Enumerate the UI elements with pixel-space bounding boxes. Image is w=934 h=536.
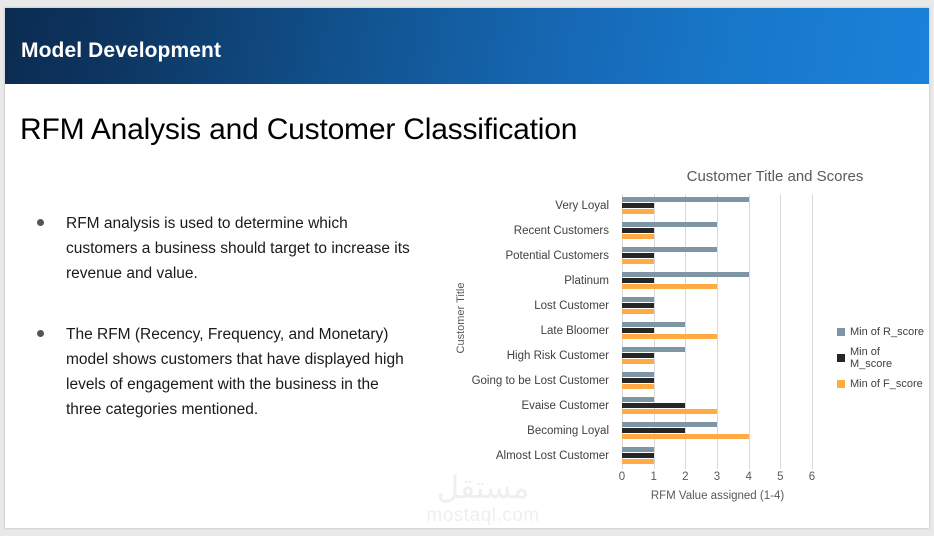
chart-bar	[622, 397, 654, 402]
chart-category-label: Potential Customers	[435, 244, 616, 269]
chart-category-labels: Very LoyalRecent CustomersPotential Cust…	[435, 194, 616, 469]
legend-swatch-icon	[837, 328, 845, 336]
chart-bar	[622, 347, 685, 352]
bullet-dot-icon	[37, 219, 44, 226]
chart-bar	[622, 453, 654, 458]
chart-bar	[622, 303, 654, 308]
chart-bar-group	[622, 269, 812, 294]
chart-bar	[622, 197, 749, 202]
watermark: مستقل mostaql.com	[403, 471, 563, 527]
chart-x-tick-label: 5	[770, 471, 790, 483]
chart-category-label: Evaise Customer	[435, 394, 616, 419]
chart-category-label: High Risk Customer	[435, 344, 616, 369]
chart-bar-group	[622, 219, 812, 244]
chart-gridline	[812, 194, 813, 469]
legend-label: Min of R_score	[850, 326, 924, 338]
chart-bar-group	[622, 244, 812, 269]
bullet-list: RFM analysis is used to determine which …	[27, 211, 427, 458]
header-title: Model Development	[21, 39, 221, 63]
chart-legend: Min of R_scoreMin of M_scoreMin of F_sco…	[837, 326, 925, 398]
chart-bar-rows	[622, 194, 812, 469]
bullet-text: The RFM (Recency, Frequency, and Monetar…	[66, 322, 411, 422]
chart-title: Customer Title and Scores	[620, 168, 929, 185]
chart-bar	[622, 384, 654, 389]
chart-bar	[622, 234, 654, 239]
chart-bar	[622, 284, 717, 289]
chart-bar-group	[622, 294, 812, 319]
chart-bar	[622, 434, 749, 439]
chart-bar	[622, 253, 654, 258]
chart-bar	[622, 353, 654, 358]
chart-bar	[622, 322, 685, 327]
chart-bar	[622, 309, 654, 314]
chart-bar	[622, 328, 654, 333]
chart-x-tick-label: 6	[802, 471, 822, 483]
legend-label: Min of M_score	[850, 346, 925, 370]
chart-x-axis-ticks: 0123456	[622, 469, 812, 487]
chart-category-label: Becoming Loyal	[435, 419, 616, 444]
chart-bar	[622, 459, 654, 464]
watermark-latin: mostaql.com	[403, 505, 563, 527]
slide: Model Development RFM Analysis and Custo…	[5, 8, 929, 528]
header-band: Model Development	[5, 8, 929, 84]
legend-swatch-icon	[837, 354, 845, 362]
chart-bar	[622, 247, 717, 252]
chart-x-tick-label: 1	[644, 471, 664, 483]
legend-item: Min of R_score	[837, 326, 925, 338]
legend-label: Min of F_score	[850, 378, 923, 390]
chart-bar	[622, 422, 717, 427]
bullet-text: RFM analysis is used to determine which …	[66, 211, 411, 286]
watermark-arabic: مستقل	[403, 471, 563, 505]
legend-item: Min of F_score	[837, 378, 925, 390]
chart-category-label: Recent Customers	[435, 219, 616, 244]
legend-item: Min of M_score	[837, 346, 925, 370]
chart-bar	[622, 359, 654, 364]
chart-category-label: Lost Customer	[435, 294, 616, 319]
chart-bar-group	[622, 319, 812, 344]
list-item: The RFM (Recency, Frequency, and Monetar…	[27, 322, 427, 422]
chart-bar	[622, 409, 717, 414]
chart-category-label: Very Loyal	[435, 194, 616, 219]
chart-bar	[622, 428, 685, 433]
chart-bar-group	[622, 344, 812, 369]
chart-bar	[622, 228, 654, 233]
chart-category-label: Almost Lost Customer	[435, 444, 616, 469]
page-title: RFM Analysis and Customer Classification	[20, 113, 577, 147]
chart-bar	[622, 403, 685, 408]
bullet-dot-icon	[37, 330, 44, 337]
chart-bar	[622, 447, 654, 452]
chart-bar-group	[622, 444, 812, 469]
chart-bar	[622, 259, 654, 264]
chart-bar-group	[622, 369, 812, 394]
legend-swatch-icon	[837, 380, 845, 388]
chart-x-tick-label: 4	[739, 471, 759, 483]
chart-bar	[622, 372, 654, 377]
chart-bar-group	[622, 194, 812, 219]
chart-plot-area	[622, 194, 812, 469]
chart-bar-group	[622, 419, 812, 444]
chart-category-label: Going to be Lost Customer	[435, 369, 616, 394]
chart-bar	[622, 297, 654, 302]
rfm-bar-chart: Customer Title and Scores Customer Title…	[435, 160, 925, 520]
chart-bar	[622, 222, 717, 227]
chart-bar	[622, 203, 654, 208]
chart-bar	[622, 278, 654, 283]
chart-x-tick-label: 3	[707, 471, 727, 483]
list-item: RFM analysis is used to determine which …	[27, 211, 427, 286]
chart-bar	[622, 378, 654, 383]
chart-bar-group	[622, 394, 812, 419]
chart-x-tick-label: 2	[675, 471, 695, 483]
chart-x-tick-label: 0	[612, 471, 632, 483]
chart-bar	[622, 272, 749, 277]
chart-bar	[622, 209, 654, 214]
chart-category-label: Late Bloomer	[435, 319, 616, 344]
chart-bar	[622, 334, 717, 339]
chart-x-axis-label: RFM Value assigned (1-4)	[585, 490, 850, 502]
chart-category-label: Platinum	[435, 269, 616, 294]
